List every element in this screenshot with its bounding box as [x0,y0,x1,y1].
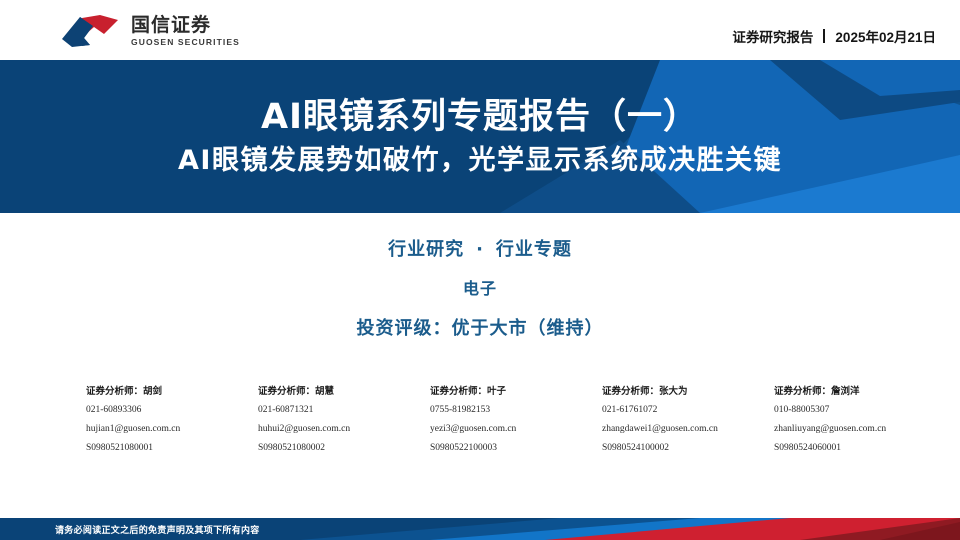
research-category-line: 行业研究·行业专题 [388,236,572,264]
brand-name-en: GUOSEN SECURITIES [131,37,240,48]
report-cover-page: 国信证券 GUOSEN SECURITIES 证券研究报告 2025年02月21… [0,0,960,540]
analyst-license: S0980524060001 [774,439,946,458]
analyst-column: 证券分析师：张大为 021-61761072 zhangdawei1@guose… [602,382,774,458]
page-footer: 请务必阅读正文之后的免责声明及其项下所有内容 [0,518,960,540]
footer-disclaimer: 请务必阅读正文之后的免责声明及其项下所有内容 [55,518,260,540]
title-banner: AI眼镜系列专题报告（一） AI眼镜发展势如破竹，光学显示系统成决胜关键 [0,60,960,213]
report-meta-block: 行业研究·行业专题 电子 投资评级：优于大市（维持） [0,236,960,343]
analyst-phone: 021-60871321 [258,401,430,420]
analyst-name: 证券分析师：胡剑 [86,382,258,401]
report-title: AI眼镜系列专题报告（一） [261,95,699,139]
analyst-phone: 0755-81982153 [430,401,602,420]
analyst-name: 证券分析师：张大为 [602,382,774,401]
analyst-column: 证券分析师：詹浏洋 010-88005307 zhanliuyang@guose… [774,382,946,458]
analyst-name: 证券分析师：叶子 [430,382,602,401]
analyst-email[interactable]: yezi3@guosen.com.cn [430,420,602,439]
guosen-logo-icon [60,14,122,48]
analyst-column: 证券分析师：叶子 0755-81982153 yezi3@guosen.com.… [430,382,602,458]
analyst-phone: 010-88005307 [774,401,946,420]
analyst-column: 证券分析师：胡剑 021-60893306 hujian1@guosen.com… [86,382,258,458]
research-category: 行业研究 [388,239,464,260]
analyst-name: 证券分析师：詹浏洋 [774,382,946,401]
analyst-phone: 021-61761072 [602,401,774,420]
brand-logo: 国信证券 GUOSEN SECURITIES [60,14,240,48]
research-topic: 行业专题 [496,239,572,260]
report-type-label: 证券研究报告 [732,26,813,46]
analyst-license: S0980521080001 [86,439,258,458]
analyst-license: S0980521080002 [258,439,430,458]
category-separator-icon: · [476,239,484,260]
banner-content: AI眼镜系列专题报告（一） AI眼镜发展势如破竹，光学显示系统成决胜关键 [0,60,960,213]
sector-name: 电子 [463,276,497,302]
report-date: 2025年02月21日 [835,26,936,46]
investment-rating: 投资评级：优于大市（维持） [357,315,604,343]
analyst-name: 证券分析师：胡慧 [258,382,430,401]
header-meta: 证券研究报告 2025年02月21日 [732,26,936,46]
analyst-phone: 021-60893306 [86,401,258,420]
analyst-list: 证券分析师：胡剑 021-60893306 hujian1@guosen.com… [86,382,906,458]
brand-name-cn: 国信证券 [131,15,240,36]
page-header: 国信证券 GUOSEN SECURITIES 证券研究报告 2025年02月21… [0,0,960,60]
analyst-email[interactable]: huhui2@guosen.com.cn [258,420,430,439]
analyst-license: S0980522100003 [430,439,602,458]
analyst-column: 证券分析师：胡慧 021-60871321 huhui2@guosen.com.… [258,382,430,458]
analyst-email[interactable]: zhangdawei1@guosen.com.cn [602,420,774,439]
report-subtitle: AI眼镜发展势如破竹，光学显示系统成决胜关键 [178,143,782,179]
header-divider-icon [823,29,825,43]
brand-logo-text: 国信证券 GUOSEN SECURITIES [131,15,240,48]
analyst-email[interactable]: hujian1@guosen.com.cn [86,420,258,439]
analyst-email[interactable]: zhanliuyang@guosen.com.cn [774,420,946,439]
analyst-license: S0980524100002 [602,439,774,458]
